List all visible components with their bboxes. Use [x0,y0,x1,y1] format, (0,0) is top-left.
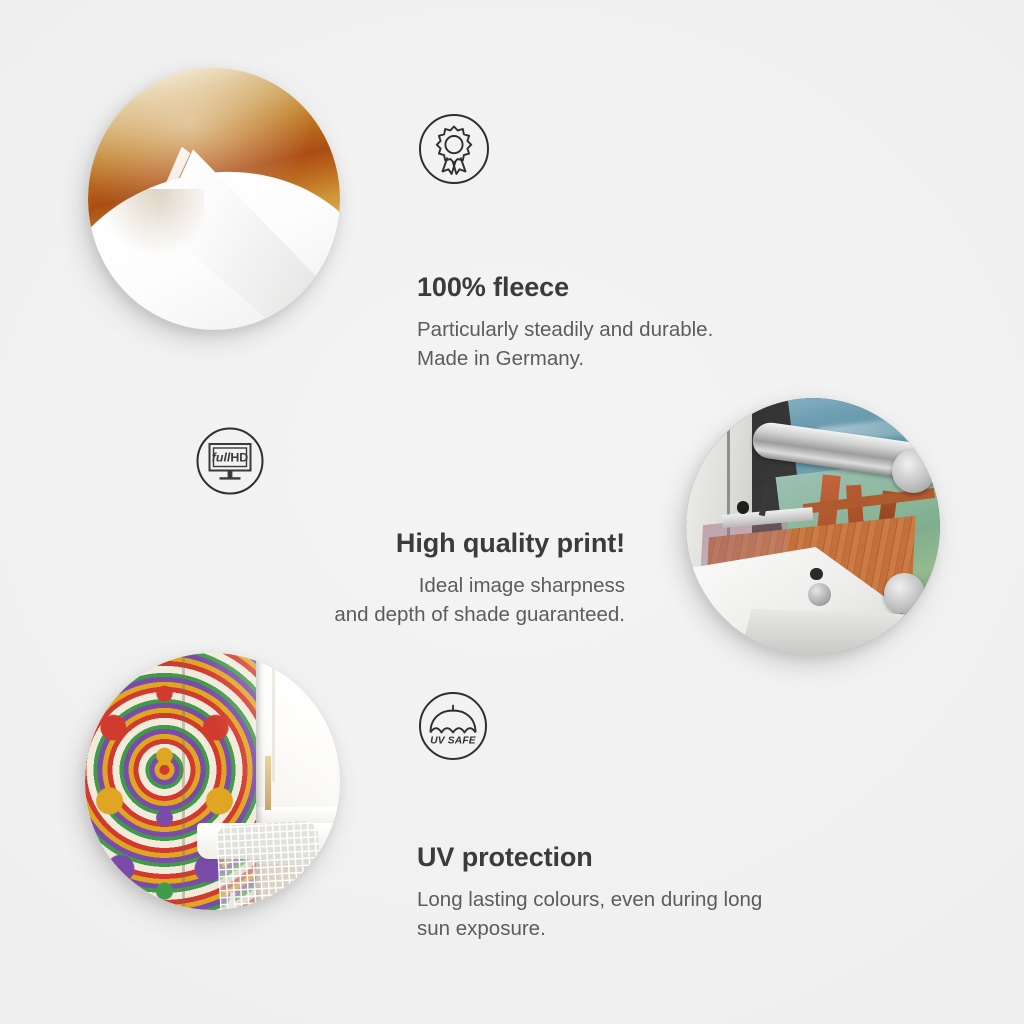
infographic-canvas: 100% fleece Particularly steadily and du… [0,0,1024,1024]
award-rosette-icon [417,112,847,186]
photo-clip [88,68,340,330]
svg-text:UV SAFE: UV SAFE [430,735,477,746]
feature-heading: High quality print! [195,528,625,559]
roller-end-cap [892,449,935,493]
roller-end-cap [884,573,925,614]
feature-body: Ideal image sharpness and depth of shade… [195,571,625,629]
feature-block-uv: UV SAFE UV protection Long lasting colou… [417,690,857,943]
printer-knob [808,583,831,606]
feature-body: Particularly steadily and durable. Made … [417,315,847,373]
photo-clip [686,398,940,655]
printer-arm-knob [737,501,750,514]
fullhd-monitor-icon: fullHD [195,426,625,496]
flap-shadow [98,189,204,257]
feature-heading: 100% fleece [417,272,847,303]
feature-block-fleece: 100% fleece Particularly steadily and du… [417,112,847,373]
uv-safe-umbrella-icon: UV SAFE [417,690,857,762]
svg-text:fullHD: fullHD [212,451,249,465]
feature-heading: UV protection [417,842,857,873]
photo-clip [85,653,340,910]
feature-block-print: fullHD High quality print! Ideal image s… [195,426,625,629]
large-format-printer-photo [686,398,940,655]
curled-wallpaper-sheet-photo [88,68,340,330]
feature-body: Long lasting colours, even during long s… [417,885,857,943]
mandala-wallpaper-room-photo [85,653,340,910]
printer-base [737,609,925,655]
